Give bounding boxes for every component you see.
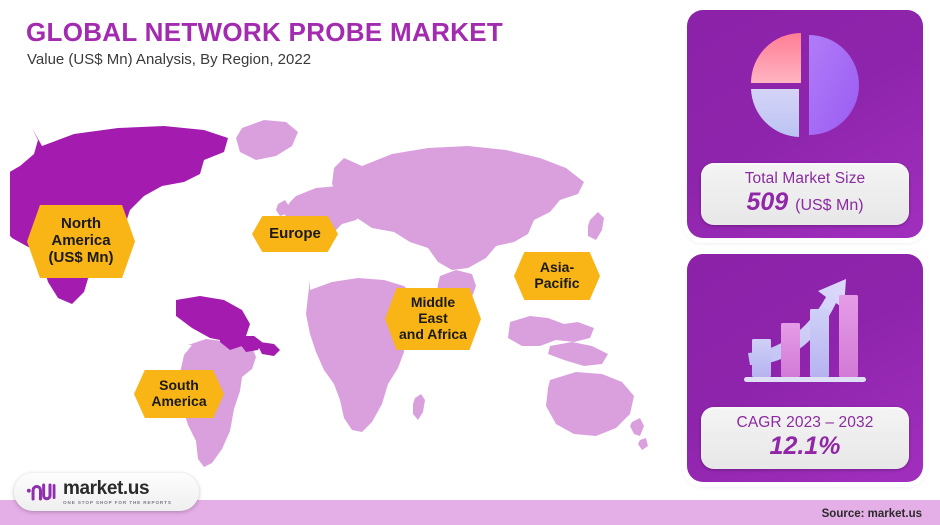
total-market-size-value: 509 bbox=[746, 188, 788, 216]
infographic-canvas: GLOBAL NETWORK PROBE MARKET Value (US$ M… bbox=[0, 0, 940, 525]
card-cagr: CAGR 2023 – 2032 12.1% bbox=[687, 254, 923, 482]
market-us-logo-tagline: ONE STOP SHOP FOR THE REPORTS bbox=[63, 500, 172, 505]
total-market-size-label: Total Market Size bbox=[705, 170, 905, 188]
page-title: GLOBAL NETWORK PROBE MARKET bbox=[26, 17, 503, 48]
map-label-asia-pacific[interactable]: Asia- Pacific bbox=[514, 252, 600, 300]
logo-word-market: market bbox=[63, 478, 123, 499]
market-us-logo-wordmark: market.us bbox=[63, 479, 172, 498]
market-us-logo-mark-icon bbox=[26, 479, 56, 505]
total-market-size-unit: (US$ Mn) bbox=[795, 197, 863, 214]
pie-chart-figure bbox=[687, 10, 923, 160]
market-us-logo[interactable]: market.us ONE STOP SHOP FOR THE REPORTS bbox=[14, 473, 199, 511]
map-label-middle-east-and-africa[interactable]: Middle East and Africa bbox=[385, 288, 481, 350]
growth-chart-figure bbox=[687, 254, 923, 404]
cagr-panel: CAGR 2023 – 2032 12.1% bbox=[701, 407, 909, 469]
pie-chart-icon bbox=[741, 25, 869, 145]
map-label-north-america[interactable]: North America (US$ Mn) bbox=[27, 205, 135, 278]
page-subtitle: Value (US$ Mn) Analysis, By Region, 2022 bbox=[27, 51, 311, 68]
card-total-market-size: Total Market Size 509 (US$ Mn) bbox=[687, 10, 923, 238]
total-market-size-panel: Total Market Size 509 (US$ Mn) bbox=[701, 163, 909, 225]
map-label-south-america[interactable]: South America bbox=[134, 370, 224, 418]
source-credit: Source: market.us bbox=[822, 508, 922, 520]
logo-word-domain: .us bbox=[123, 478, 149, 499]
growth-bar-chart-icon bbox=[730, 265, 880, 393]
total-market-size-value-row: 509 (US$ Mn) bbox=[705, 189, 905, 217]
cagr-value: 12.1% bbox=[705, 433, 905, 461]
map-label-europe[interactable]: Europe bbox=[252, 216, 338, 252]
market-us-logo-text: market.us ONE STOP SHOP FOR THE REPORTS bbox=[63, 479, 172, 505]
cagr-label: CAGR 2023 – 2032 bbox=[705, 414, 905, 432]
